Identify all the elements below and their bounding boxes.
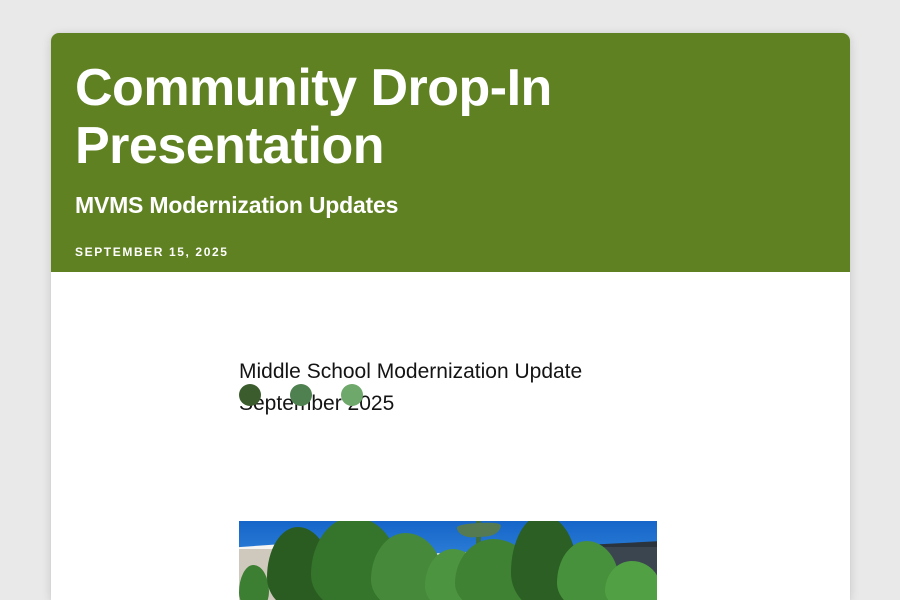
page-title: Community Drop-In Presentation	[75, 59, 735, 175]
page-root: Community Drop-In Presentation MVMS Mode…	[0, 0, 900, 600]
accent-dot-light	[341, 384, 363, 406]
page-subtitle: MVMS Modernization Updates	[75, 191, 810, 219]
document-header: Community Drop-In Presentation MVMS Mode…	[51, 33, 850, 272]
accent-dot-group	[239, 384, 363, 406]
document-card: Community Drop-In Presentation MVMS Mode…	[51, 33, 850, 600]
school-exterior-photo	[239, 521, 657, 600]
accent-dot-medium	[290, 384, 312, 406]
accent-dot-dark	[239, 384, 261, 406]
document-body: Middle School Modernization Update Septe…	[51, 272, 850, 600]
publication-date: September 15, 2025	[75, 245, 810, 259]
